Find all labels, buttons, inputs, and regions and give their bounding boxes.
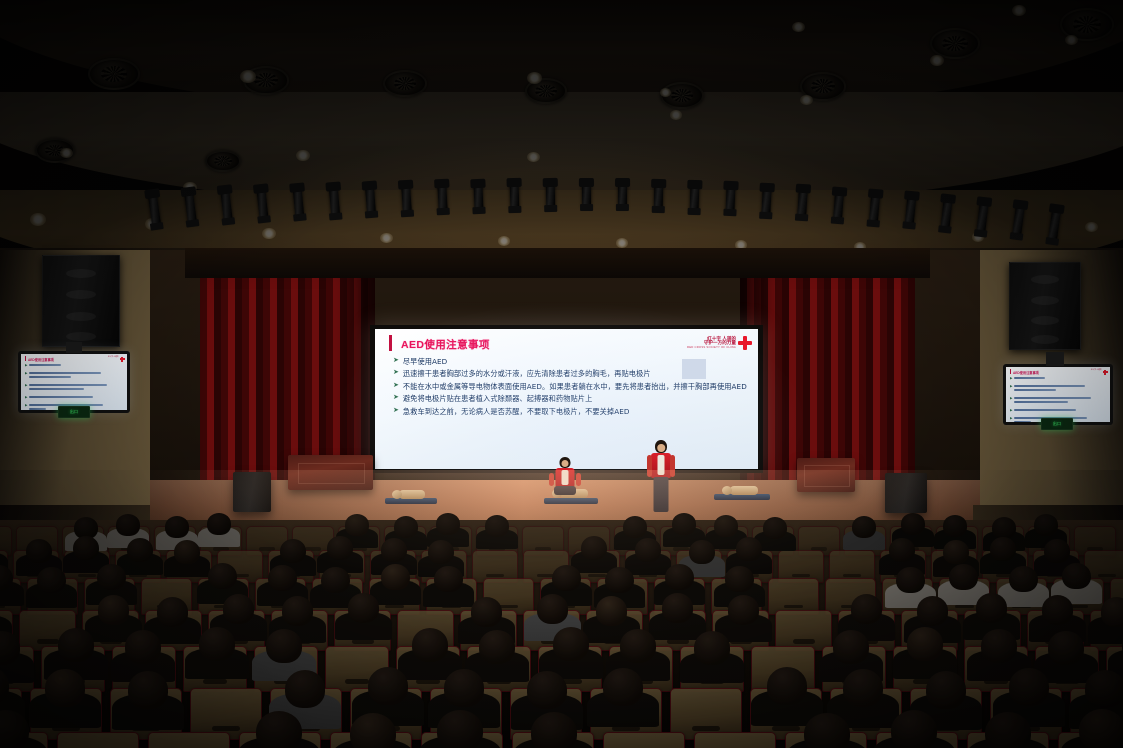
- podium-right: [797, 458, 855, 492]
- slide-bullet-text: 不能在水中或金属等导电物体表面使用AED。如果患者躺在水中，要先将患者抬出，并擦…: [403, 382, 747, 391]
- mini-bullet-marker: [25, 372, 28, 375]
- audience-head: [471, 597, 503, 627]
- monitor-mount-right: [1046, 352, 1064, 366]
- audience-head: [485, 515, 509, 537]
- mini-bullet-line: [1014, 385, 1085, 387]
- audience-head: [728, 595, 760, 625]
- slide-bullet: ➤不能在水中或金属等导电物体表面使用AED。如果患者躺在水中，要先将患者抬出，并…: [393, 382, 750, 391]
- audience-head: [37, 567, 66, 594]
- audience-head: [537, 594, 569, 624]
- audience-head: [127, 538, 153, 562]
- audience-head: [635, 538, 661, 562]
- cpr-manikin-left: [399, 490, 425, 499]
- audience-head: [45, 669, 85, 706]
- slide-bullet: ➤避免将电极片贴在患者植入式除颞器、起搏器和药物贴片上: [393, 394, 750, 403]
- stage-light-fixture: [725, 185, 735, 214]
- red-cross-icon: [120, 357, 125, 362]
- audience-head: [321, 567, 350, 594]
- stage-light-fixture: [510, 182, 520, 210]
- audience-head: [1044, 539, 1070, 563]
- audience-head: [327, 536, 353, 560]
- audience-head: [128, 671, 168, 708]
- mini-bullet-marker: [1010, 417, 1013, 420]
- audience-head: [1079, 709, 1123, 748]
- audience-head: [926, 671, 966, 708]
- audience-head: [843, 669, 883, 706]
- stage-light-fixture: [329, 185, 341, 216]
- audience-head: [350, 713, 396, 748]
- stage-light-fixture: [256, 188, 268, 221]
- side-monitor-right-screen: AED使用注意事项 红十字 人道的: [1006, 367, 1110, 422]
- audience-head: [694, 631, 730, 664]
- auditorium-seat: [694, 732, 776, 748]
- podium-left: [288, 455, 373, 490]
- audience-head: [833, 630, 869, 663]
- audience-head: [1009, 668, 1049, 705]
- audience-head: [672, 513, 696, 535]
- audience-head: [280, 539, 306, 563]
- audience-head: [412, 628, 448, 661]
- stage-light-fixture: [940, 198, 952, 231]
- audience-head: [981, 629, 1017, 662]
- audience-head: [479, 630, 515, 663]
- audience-head: [623, 516, 647, 538]
- mini-bullet-marker: [1010, 377, 1013, 380]
- exit-sign-right: 出口: [1041, 418, 1073, 430]
- stage-light-fixture: [184, 190, 197, 224]
- audience-head: [943, 540, 969, 564]
- audience-head: [689, 540, 715, 564]
- audience-head: [985, 712, 1031, 748]
- audience-head: [767, 667, 807, 704]
- audience-head: [208, 563, 237, 590]
- stage-light-fixture: [690, 184, 700, 212]
- stage-light-fixture: [437, 183, 447, 212]
- ceiling-downlight: [660, 88, 671, 97]
- mini-bullet-line: [1014, 421, 1031, 422]
- slide-bullet-text: 尽早使用AED: [403, 357, 447, 366]
- slide-bullet: ➤尽早使用AED: [393, 357, 750, 366]
- mini-bullet-line: [29, 372, 101, 374]
- audience-head: [896, 567, 925, 594]
- audience-head: [98, 595, 130, 625]
- exit-sign-left-label: 出口: [70, 409, 79, 415]
- audience-head: [437, 710, 483, 748]
- audience-head: [714, 515, 738, 537]
- exit-sign-left: 出口: [58, 406, 90, 418]
- exit-sign-right-label: 出口: [1053, 421, 1062, 427]
- audience-head: [345, 514, 369, 536]
- mini-bullet-line: [29, 384, 107, 386]
- audience-head: [97, 564, 126, 591]
- mini-bullet-line: [1014, 377, 1045, 379]
- audience-head: [603, 668, 643, 705]
- audience-head: [58, 628, 94, 661]
- mini-bullet-line: [29, 364, 61, 366]
- side-monitor-right: AED使用注意事项 红十字 人道的: [1003, 364, 1113, 425]
- audience-head: [596, 596, 628, 626]
- audience-head: [552, 565, 581, 592]
- stage-valance: [185, 248, 930, 278]
- slide-bullet: ➤迅速擦干患者胸部过多的水分或汗液，应先清除患者过多的胸毛，再贴电极片: [393, 369, 750, 378]
- ceiling-vent: [88, 58, 140, 90]
- stage-light-fixture: [618, 182, 627, 208]
- mini-bullet-marker: [25, 364, 28, 367]
- audience-head: [268, 565, 297, 592]
- audience-head: [531, 712, 577, 748]
- audience-head: [725, 566, 754, 593]
- audience-head: [605, 567, 634, 594]
- stage-light-fixture: [654, 183, 663, 210]
- mini-bullet-marker: [1010, 409, 1013, 412]
- side-monitor-left-title: AED使用注意事项: [28, 357, 54, 362]
- mini-bullet-marker: [25, 404, 28, 407]
- audience-head: [891, 710, 937, 748]
- audience-head: [990, 537, 1016, 561]
- slide-bullet: ➤急救车到达之前，无论病人是否苏醒，不要取下电极片，不要关掉AED: [393, 407, 750, 416]
- audience-head: [116, 514, 140, 536]
- slide-bullet-list: ➤尽早使用AED➤迅速擦干患者胸部过多的水分或汗液，应先清除患者过多的胸毛，再贴…: [393, 357, 750, 419]
- stage-light-fixture: [546, 182, 555, 209]
- cpr-manikin-right-head: [722, 486, 732, 495]
- red-cross-logo-text: 红十字 人道的 守护一方的力量 RED CROSS SOCIETY OF CHI…: [687, 337, 736, 350]
- mini-bullet-marker: [1010, 385, 1013, 388]
- audience-head: [1062, 563, 1091, 590]
- audience-head: [662, 593, 694, 623]
- mini-bullet-line: [29, 376, 71, 378]
- audience-head: [223, 594, 255, 624]
- speaker-cabinet-left: [233, 472, 271, 512]
- slide-bullet-text: 避免将电极片贴在患者植入式除颞器、起搏器和药物贴片上: [403, 394, 592, 403]
- audience-head: [428, 540, 454, 564]
- audience-head: [1048, 631, 1084, 664]
- mini-bullet-line: [29, 388, 84, 390]
- mini-bullet-line: [1014, 389, 1056, 391]
- slide-title: AED使用注意事项: [401, 337, 490, 352]
- stage-light-fixture: [761, 187, 771, 216]
- slide-bullet-text: 迅速擦干患者胸部过多的水分或汗液，应先清除患者过多的胸毛，再贴电极片: [403, 369, 651, 378]
- slide-title-accent-bar: [389, 335, 392, 351]
- stage-light-fixture: [905, 195, 917, 227]
- audience-head: [804, 713, 850, 748]
- audience-head: [256, 711, 302, 748]
- audience-head: [736, 537, 762, 561]
- slide-bullet-text: 急救车到达之前，无论病人是否苏醒，不要取下电极片，不要关掉AED: [403, 407, 630, 416]
- ceiling-downlight: [240, 70, 256, 83]
- bullet-marker: ➤: [393, 382, 399, 391]
- audience-head: [434, 566, 463, 593]
- monitor-mount-left: [66, 342, 82, 353]
- audience-head: [852, 516, 876, 538]
- stage-light-fixture: [582, 182, 591, 208]
- cpr-manikin-right: [730, 486, 758, 495]
- audience-head: [901, 513, 925, 535]
- audience-head: [348, 593, 380, 623]
- stage-light-fixture: [833, 190, 844, 221]
- stage-light-fixture: [293, 186, 305, 218]
- audience-head: [1101, 597, 1123, 627]
- audience-head: [266, 629, 302, 662]
- red-cross-logo: 红十字 人道的 守护一方的力量 RED CROSS SOCIETY OF CHI…: [687, 336, 752, 350]
- audience-head: [282, 596, 314, 626]
- audience-head: [174, 540, 200, 564]
- stage-light-fixture: [473, 182, 483, 211]
- ceiling-downlight: [670, 110, 682, 120]
- audience-head: [73, 536, 99, 560]
- stage-light-fixture: [220, 189, 233, 223]
- audience-head: [527, 671, 567, 708]
- audience-head: [368, 667, 408, 704]
- mini-bullet-marker: [1010, 397, 1013, 400]
- bullet-marker: ➤: [393, 357, 399, 366]
- ceiling-vent: [383, 70, 427, 97]
- audience-head: [949, 564, 978, 591]
- speaker-cabinet-right: [885, 473, 927, 513]
- stage-lighting-truss: [150, 178, 1050, 248]
- audience-head: [1009, 566, 1038, 593]
- projection-screen: AED使用注意事项 红十字 人道的 守护一方的力量 RED CROSS SOCI…: [375, 329, 758, 469]
- audience-head: [976, 593, 1008, 623]
- audience-head: [1042, 595, 1074, 625]
- audience-head: [381, 538, 407, 562]
- projection-screen-frame: AED使用注意事项 红十字 人道的 守护一方的力量 RED CROSS SOCI…: [370, 325, 763, 473]
- audience-area: [0, 520, 1123, 748]
- presenter-standing: [645, 440, 677, 518]
- audience-head: [992, 517, 1016, 539]
- presenter-kneeling: [548, 457, 582, 499]
- mini-bullet-marker: [25, 396, 28, 399]
- ceiling-downlight: [527, 72, 542, 84]
- auditorium-seat: [148, 732, 230, 748]
- auditorium-seat: [603, 732, 685, 748]
- logo-sub: RED CROSS SOCIETY OF CHINA: [687, 346, 736, 349]
- side-monitor-right-title: AED使用注意事项: [1013, 370, 1039, 375]
- audience-head: [553, 627, 589, 660]
- bullet-marker: ➤: [393, 394, 399, 403]
- audience-head: [1034, 514, 1058, 536]
- audience-head: [381, 564, 410, 591]
- ceiling-downlight: [30, 213, 46, 226]
- mini-bullet-line: [1014, 397, 1091, 399]
- audience-head: [26, 539, 52, 563]
- line-array-speaker-right: [1009, 262, 1081, 350]
- stage-light-fixture: [148, 192, 162, 227]
- mini-bullet-line: [1014, 409, 1076, 411]
- auditorium-photo: AED使用注意事项 红十字 人道的 出口 AED使用注意事项 红十字 人道的 出…: [0, 0, 1123, 748]
- audience-head: [943, 515, 967, 537]
- audience-head: [907, 627, 943, 660]
- cpr-manikin-left-head: [392, 490, 402, 499]
- audience-head: [581, 536, 607, 560]
- audience-head: [436, 513, 460, 535]
- stage-light-fixture: [401, 184, 412, 214]
- stage-light-fixture: [976, 201, 989, 235]
- side-monitor-left-screen: AED使用注意事项 红十字 人道的: [21, 354, 127, 410]
- red-cross-icon: [738, 336, 752, 350]
- audience-head: [620, 629, 656, 662]
- audience-head: [394, 516, 418, 538]
- stage-light-fixture: [869, 192, 881, 223]
- stage-light-fixture: [1012, 204, 1025, 238]
- audience-head: [207, 513, 231, 535]
- mini-bullet-line: [29, 408, 46, 410]
- side-monitor-right-logo-text: 红十字 人道的: [1091, 370, 1102, 372]
- auditorium-seat: [775, 610, 832, 651]
- mini-bullet-line: [29, 396, 93, 398]
- bullet-marker: ➤: [393, 407, 399, 416]
- audience-head: [917, 596, 949, 626]
- mini-bullet-line: [1014, 401, 1068, 403]
- audience-head: [165, 516, 189, 538]
- audience-head: [889, 538, 915, 562]
- audience-head: [665, 564, 694, 591]
- mini-bullet-marker: [25, 384, 28, 387]
- audience-head: [157, 597, 189, 627]
- stage-light-fixture: [797, 188, 808, 218]
- audience-head: [285, 670, 325, 707]
- red-cross-icon: [1103, 370, 1108, 375]
- auditorium-seat: [57, 732, 139, 748]
- side-monitor-left: AED使用注意事项 红十字 人道的: [18, 351, 130, 413]
- audience-head: [763, 517, 787, 539]
- line-array-speaker-left: [42, 255, 120, 347]
- audience-head: [199, 627, 235, 660]
- audience-head: [444, 669, 484, 706]
- side-monitor-left-logo-text: 红十字 人道的: [108, 357, 119, 359]
- bullet-marker: ➤: [393, 369, 399, 378]
- audience-head: [851, 594, 883, 624]
- audience-head: [1085, 670, 1123, 707]
- stage-light-fixture: [365, 184, 376, 215]
- audience-head: [125, 630, 161, 663]
